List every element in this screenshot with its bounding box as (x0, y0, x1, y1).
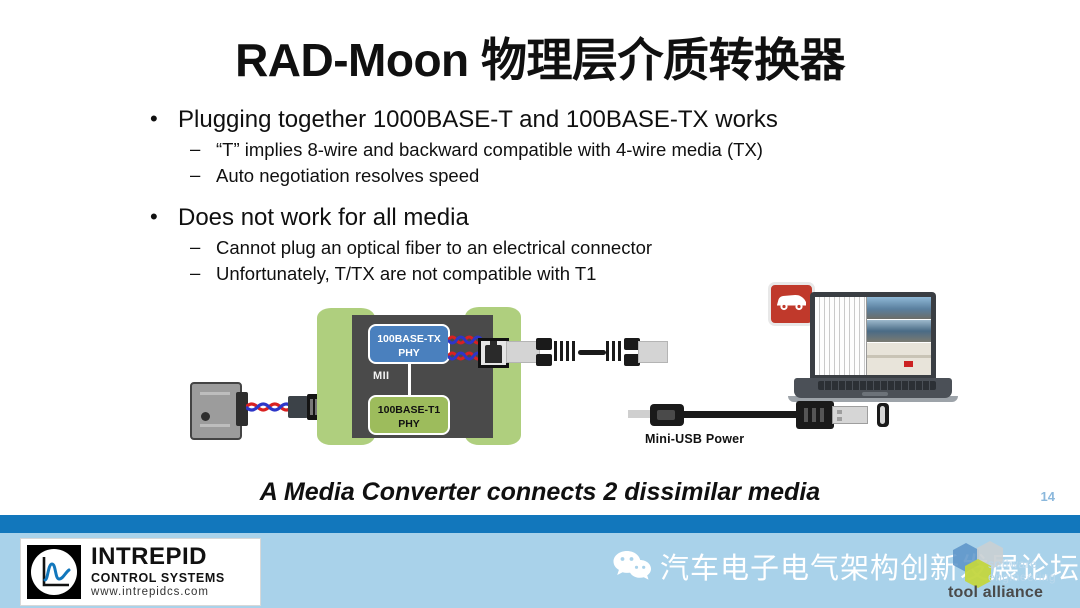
slide-canvas: RAD-Moon 物理层介质转换器 • Plugging together 10… (0, 0, 1080, 515)
ethernet-plug-body (506, 341, 540, 363)
bullet-level1-text: Does not work for all media (178, 204, 469, 231)
intrepid-logo-text: INTREPID CONTROL SYSTEMS www.intrepidcs.… (91, 545, 225, 599)
camera-lens-dot (201, 412, 210, 421)
video-thumbnail (867, 297, 931, 320)
usb-mini-tip (628, 410, 652, 418)
ethernet-strain-relief (618, 341, 621, 361)
tool-alliance-faint-line2: engineering (988, 570, 1056, 584)
usb-mini-opening (657, 410, 675, 420)
phy-t1-line2: PHY (370, 417, 448, 431)
dash-marker-icon: – (190, 136, 200, 162)
ethernet-boot (536, 338, 552, 350)
usb-wire (682, 411, 802, 418)
bullet-level2: – “T” implies 8-wire and backward compat… (142, 137, 942, 163)
software-data-grid (815, 297, 867, 375)
slide-caption: A Media Converter connects 2 dissimilar … (0, 478, 1080, 507)
software-media-panel (867, 297, 931, 375)
page-title: RAD-Moon 物理层介质转换器 (0, 24, 1080, 90)
ethernet-wire (578, 350, 606, 355)
ethernet-cable (506, 337, 721, 369)
camera-body (190, 382, 242, 440)
laptop-lid (810, 292, 936, 380)
tool-alliance-faint-line1: software (988, 557, 1037, 571)
laptop-base (794, 378, 952, 398)
ethernet-strain-relief (554, 341, 557, 361)
laptop-icon (788, 292, 948, 412)
intrepid-logo-mark-icon (27, 545, 81, 599)
mini-usb-cable-icon (628, 397, 898, 437)
bullet-list: • Plugging together 1000BASE-T and 100BA… (142, 104, 942, 286)
bullet-marker-icon: • (150, 202, 158, 232)
logo-company-name: INTREPID (91, 545, 225, 569)
rj45-opening (485, 345, 502, 363)
page-number: 14 (1041, 489, 1055, 504)
usb-a-metal-shell (832, 406, 868, 424)
ethernet-boot (536, 354, 552, 366)
bullet-level2: – Cannot plug an optical fiber to an ele… (142, 235, 942, 261)
camera-detail-line (200, 392, 230, 395)
bullet-level2-text: Unfortunately, T/TX are not compatible w… (216, 263, 596, 284)
bullet-marker-icon: • (150, 104, 158, 134)
logo-company-url: www.intrepidcs.com (91, 587, 225, 599)
usb-a-rib (804, 408, 808, 422)
map-view (867, 343, 931, 375)
connector-pin (310, 399, 313, 415)
ethernet-strain-relief (560, 341, 563, 361)
usb-a-rib (820, 408, 824, 422)
bullet-level1-text: Plugging together 1000BASE-T and 100BASE… (178, 106, 778, 133)
slide-footer: INTREPID CONTROL SYSTEMS www.intrepidcs.… (0, 533, 1080, 608)
ethernet-strain-relief (606, 341, 609, 361)
dash-marker-icon: – (190, 234, 200, 260)
wechat-glyph (612, 549, 654, 583)
ethernet-plug-body (638, 341, 668, 363)
mini-usb-power-label: Mini-USB Power (645, 432, 744, 446)
media-converter-diagram: MII 100BASE-TX PHY 100BASE-T1 PHY (180, 282, 1080, 472)
phy-box-100base-t1: 100BASE-T1 PHY (368, 395, 450, 435)
bullet-level2: – Auto negotiation resolves speed (142, 163, 942, 189)
dash-marker-icon: – (190, 162, 200, 188)
twisted-pair-cable (448, 350, 482, 360)
bullet-level2-text: Cannot plug an optical fiber to an elect… (216, 237, 652, 258)
bullet-level2-text: “T” implies 8-wire and backward compatib… (216, 139, 763, 160)
usb-a-slot (837, 417, 842, 421)
laptop-screen (815, 297, 931, 375)
connector-shell (288, 396, 308, 418)
twisted-pair-cable (246, 401, 292, 411)
bullet-group-spacer (142, 188, 942, 202)
logo-company-subtitle: CONTROL SYSTEMS (91, 572, 225, 585)
bullet-level1: • Plugging together 1000BASE-T and 100BA… (142, 104, 942, 135)
title-chinese: 物理层介质转换器 (481, 34, 845, 86)
mii-label: MII (373, 370, 389, 382)
rj45-jack-icon (478, 338, 509, 368)
bullet-level2-text: Auto negotiation resolves speed (216, 165, 479, 186)
ethernet-strain-relief (572, 341, 575, 361)
phy-box-100base-tx: 100BASE-TX PHY (368, 324, 450, 364)
tool-alliance-name: tool alliance (948, 584, 1043, 602)
laptop-keyboard (818, 381, 936, 390)
footer-accent-bar (0, 515, 1080, 533)
ethernet-strain-relief (566, 341, 569, 361)
usb-mini-plug (650, 404, 684, 426)
camera-device-icon (190, 382, 248, 436)
title-english: RAD-Moon (235, 34, 469, 86)
usb-end-cap (877, 403, 889, 427)
waveform-glyph (31, 549, 77, 595)
ethernet-strain-relief (612, 341, 615, 361)
wechat-icon (612, 549, 654, 583)
usb-a-rib (812, 408, 816, 422)
usb-a-slot (837, 410, 842, 414)
camera-detail-line (200, 424, 230, 427)
laptop-trackpad (862, 392, 888, 396)
usb-a-plug (796, 401, 834, 429)
tool-alliance-logo: software engineering tool alliance (930, 551, 1070, 603)
phy-t1-line1: 100BASE-T1 (370, 403, 448, 417)
bullet-level1: • Does not work for all media (142, 202, 942, 233)
twisted-pair-cable (448, 334, 482, 344)
mii-connector-line (408, 364, 411, 395)
phy-tx-line2: PHY (370, 346, 448, 360)
phy-tx-line1: 100BASE-TX (370, 332, 448, 346)
intrepid-logo: INTREPID CONTROL SYSTEMS www.intrepidcs.… (20, 538, 261, 606)
usb-end-cap-highlight (880, 406, 885, 424)
video-thumbnail (867, 320, 931, 343)
